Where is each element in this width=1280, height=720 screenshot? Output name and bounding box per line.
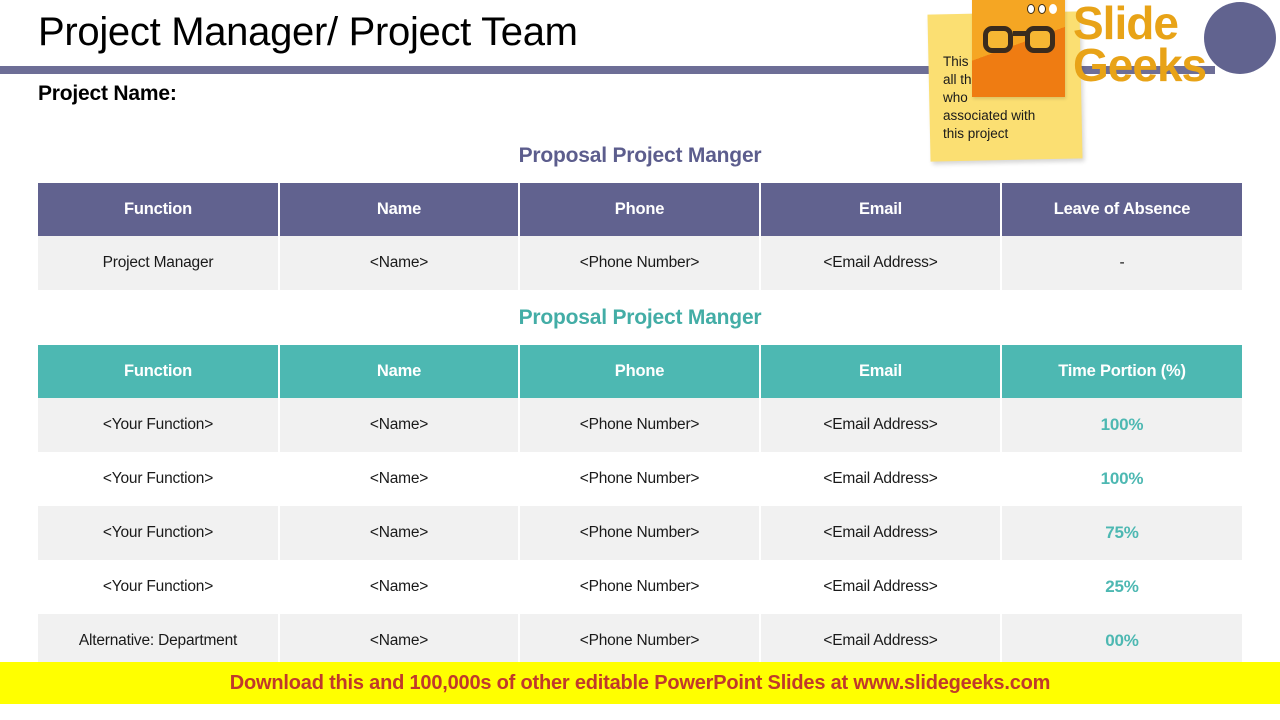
- column-header-name: Name: [279, 345, 519, 398]
- logo-line-2: Geeks: [1073, 44, 1206, 86]
- cell-name: <Name>: [279, 614, 519, 668]
- cell-phone: <Phone Number>: [519, 236, 760, 290]
- cell-email: <Email Address>: [760, 560, 1001, 614]
- column-header-name: Name: [279, 183, 519, 236]
- cell-email: <Email Address>: [760, 398, 1001, 452]
- column-header-leave-of-absence: Leave of Absence: [1001, 183, 1242, 236]
- sticky-note-line-4: associated with: [943, 107, 1073, 125]
- column-header-function: Function: [38, 183, 279, 236]
- cell-email: <Email Address>: [760, 614, 1001, 668]
- header-decor-circle: [1204, 2, 1276, 74]
- cell-email: <Email Address>: [760, 236, 1001, 290]
- table-row[interactable]: <Your Function> <Name> <Phone Number> <E…: [38, 560, 1242, 614]
- table-row[interactable]: Alternative: Department <Name> <Phone Nu…: [38, 614, 1242, 668]
- cell-time-portion: 100%: [1001, 452, 1242, 506]
- cell-email: <Email Address>: [760, 506, 1001, 560]
- cell-function: Project Manager: [38, 236, 279, 290]
- table-row[interactable]: <Your Function> <Name> <Phone Number> <E…: [38, 398, 1242, 452]
- cell-function: <Your Function>: [38, 560, 279, 614]
- cell-phone: <Phone Number>: [519, 452, 760, 506]
- cell-leave-of-absence: -: [1001, 236, 1242, 290]
- cell-name: <Name>: [279, 236, 519, 290]
- cell-function: <Your Function>: [38, 452, 279, 506]
- column-header-email: Email: [760, 345, 1001, 398]
- column-header-email: Email: [760, 183, 1001, 236]
- cell-function: <Your Function>: [38, 398, 279, 452]
- cell-name: <Name>: [279, 560, 519, 614]
- cell-phone: <Phone Number>: [519, 506, 760, 560]
- column-header-phone: Phone: [519, 183, 760, 236]
- column-header-phone: Phone: [519, 345, 760, 398]
- footer-white-strip: [0, 704, 1280, 720]
- column-header-time-portion: Time Portion (%): [1001, 345, 1242, 398]
- table-row[interactable]: <Your Function> <Name> <Phone Number> <E…: [38, 506, 1242, 560]
- cell-email: <Email Address>: [760, 452, 1001, 506]
- glasses-icon: [983, 26, 1055, 56]
- project-name-label: Project Name:: [38, 82, 177, 106]
- cell-name: <Name>: [279, 452, 519, 506]
- table-header-row: Function Name Phone Email Time Portion (…: [38, 345, 1242, 398]
- cell-phone: <Phone Number>: [519, 560, 760, 614]
- cell-time-portion: 00%: [1001, 614, 1242, 668]
- section-title-proposal-project-manager-1: Proposal Project Manger: [0, 144, 1280, 168]
- logo-dots-icon: [1027, 4, 1057, 14]
- cell-time-portion: 25%: [1001, 560, 1242, 614]
- cell-phone: <Phone Number>: [519, 398, 760, 452]
- section-title-proposal-project-manager-2: Proposal Project Manger: [0, 306, 1280, 330]
- column-header-function: Function: [38, 345, 279, 398]
- cell-function: Alternative: Department: [38, 614, 279, 668]
- table-row[interactable]: <Your Function> <Name> <Phone Number> <E…: [38, 452, 1242, 506]
- page-title: Project Manager/ Project Team: [38, 10, 578, 55]
- download-promo-banner[interactable]: Download this and 100,000s of other edit…: [0, 662, 1280, 704]
- proposal-project-manager-table-1: Function Name Phone Email Leave of Absen…: [38, 183, 1242, 290]
- sticky-note-line-5: this project: [943, 125, 1073, 143]
- slide-canvas: Project Manager/ Project Team Project Na…: [0, 0, 1280, 720]
- cell-name: <Name>: [279, 398, 519, 452]
- table-row[interactable]: Project Manager <Name> <Phone Number> <E…: [38, 236, 1242, 290]
- download-promo-text: Download this and 100,000s of other edit…: [230, 672, 1050, 695]
- cell-time-portion: 100%: [1001, 398, 1242, 452]
- cell-time-portion: 75%: [1001, 506, 1242, 560]
- slidegeeks-wordmark: Slide Geeks: [1073, 2, 1206, 86]
- cell-phone: <Phone Number>: [519, 614, 760, 668]
- cell-name: <Name>: [279, 506, 519, 560]
- logo-line-1: Slide: [1073, 2, 1206, 44]
- table-header-row: Function Name Phone Email Leave of Absen…: [38, 183, 1242, 236]
- proposal-project-manager-table-2: Function Name Phone Email Time Portion (…: [38, 345, 1242, 668]
- cell-function: <Your Function>: [38, 506, 279, 560]
